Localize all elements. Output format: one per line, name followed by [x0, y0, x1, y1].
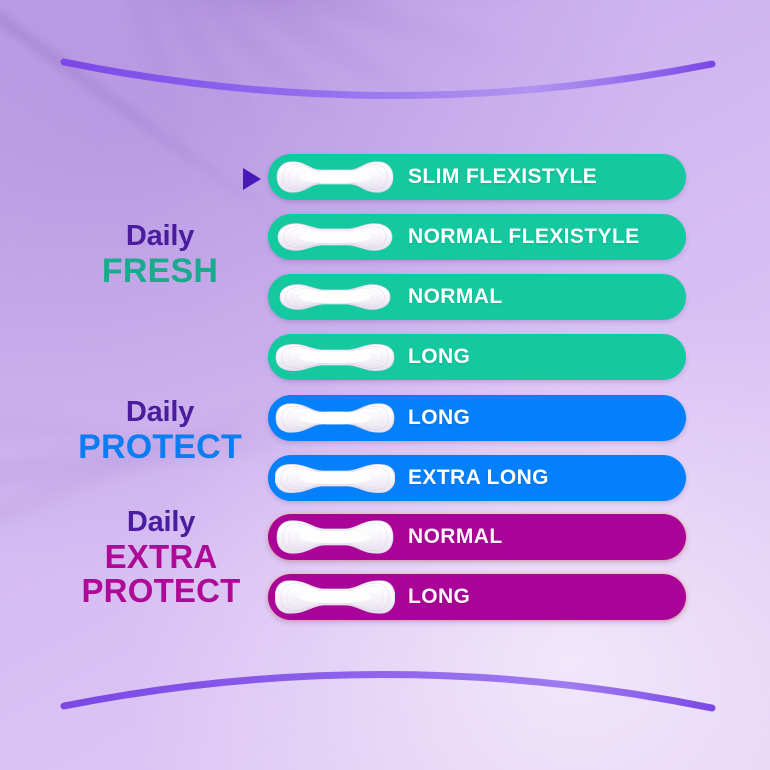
- product-row-label: NORMAL FLEXISTYLE: [408, 225, 640, 249]
- pad-normal-thick: [275, 518, 395, 556]
- pad-long-plain: [275, 399, 395, 437]
- product-row[interactable]: SLIM FLEXISTYLE: [268, 154, 686, 200]
- group-eyebrow: Daily: [60, 398, 260, 427]
- pad-illustration: [272, 157, 398, 197]
- product-row-label: EXTRA LONG: [408, 466, 549, 490]
- product-row[interactable]: NORMAL: [268, 274, 686, 320]
- pad-illustration: [272, 517, 398, 557]
- product-row[interactable]: LONG: [268, 334, 686, 380]
- play-triangle-icon: [243, 168, 261, 190]
- pad-extra-long: [275, 459, 395, 497]
- group-eyebrow: Daily: [58, 508, 264, 537]
- pad-illustration: [272, 577, 398, 617]
- pad-illustration: [272, 398, 398, 438]
- product-row-label: SLIM FLEXISTYLE: [408, 165, 597, 189]
- product-row[interactable]: LONG: [268, 395, 686, 441]
- chart-content: Daily FRESH Daily PROTECT Daily EXTRA PR…: [0, 0, 770, 770]
- pad-normal: [275, 278, 395, 316]
- pad-illustration: [272, 217, 398, 257]
- group-eyebrow: Daily: [60, 222, 260, 251]
- group-name: PROTECT: [60, 430, 260, 464]
- group-label-daily-extra-protect: Daily EXTRA PROTECT: [58, 508, 264, 607]
- pad-wide-hourglass: [275, 158, 395, 196]
- product-row-label: LONG: [408, 406, 470, 430]
- group-label-daily-protect: Daily PROTECT: [60, 398, 260, 464]
- pad-normal-flexi: [275, 218, 395, 256]
- product-row[interactable]: LONG: [268, 574, 686, 620]
- group-label-daily-fresh: Daily FRESH: [60, 222, 260, 288]
- pad-long: [275, 338, 395, 376]
- product-row-label: NORMAL: [408, 525, 503, 549]
- group-name-line2: PROTECT: [58, 574, 264, 608]
- pad-illustration: [272, 277, 398, 317]
- pad-illustration: [272, 458, 398, 498]
- pad-illustration: [272, 337, 398, 377]
- product-row-label: NORMAL: [408, 285, 503, 309]
- group-name: EXTRA PROTECT: [58, 540, 264, 607]
- group-name: FRESH: [60, 254, 260, 288]
- pad-long-thick: [275, 578, 395, 616]
- product-row[interactable]: NORMAL: [268, 514, 686, 560]
- product-row-label: LONG: [408, 345, 470, 369]
- product-row[interactable]: EXTRA LONG: [268, 455, 686, 501]
- product-row[interactable]: NORMAL FLEXISTYLE: [268, 214, 686, 260]
- group-name-line1: EXTRA: [58, 540, 264, 574]
- product-row-label: LONG: [408, 585, 470, 609]
